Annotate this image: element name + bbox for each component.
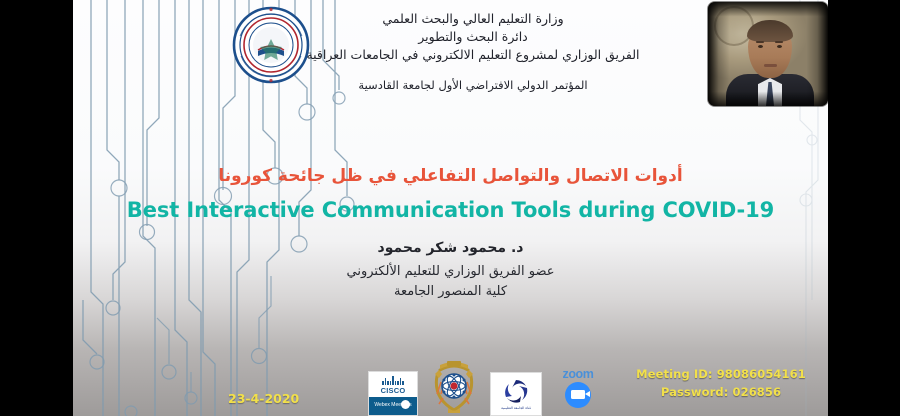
- zoom-wordmark: zoom: [562, 368, 593, 381]
- header-line-department: دائرة البحث والتطوير: [253, 28, 693, 46]
- speaker-affiliation: كلية المنصور الجامعة: [73, 282, 828, 302]
- cisco-wordmark: CISCO: [381, 386, 406, 395]
- webex-band: Webex Meetings: [369, 397, 417, 415]
- conference-name: المؤتمر الدولي الافتراضي الأول لجامعة ال…: [253, 78, 693, 92]
- cisco-bars-icon: [382, 376, 404, 385]
- ministry-header-block: وزارة التعليم العالي والبحث العلمي دائرة…: [253, 10, 693, 92]
- play-swirl-icon: [501, 378, 531, 405]
- header-line-ministry: وزارة التعليم العالي والبحث العلمي: [253, 10, 693, 28]
- video-vignette-overlay: [708, 2, 828, 106]
- webex-product-label: Webex Meetings: [374, 403, 411, 409]
- university-emblem-logo: [428, 360, 480, 416]
- university-media-channel-logo: قناة الجامعة التعليمية: [490, 372, 542, 416]
- letterbox-bar-right: [828, 0, 900, 416]
- meeting-password-line: Password: 026856: [621, 384, 821, 402]
- speaker-name: د. محمود شكر محمود: [73, 240, 828, 256]
- cisco-logo-mark: CISCO: [369, 372, 417, 397]
- letterbox-bar-left: [0, 0, 73, 416]
- zoom-logo: zoom: [552, 366, 604, 416]
- slide-date: 23-4-2020: [228, 391, 299, 406]
- speaker-role: عضو الفريق الوزاري للتعليم الألكتروني: [73, 262, 828, 282]
- meeting-credentials: Meeting ID: 98086054161 Password: 026856: [621, 366, 821, 402]
- video-conference-stage: وزارة التعليم العالي والبحث العلمي دائرة…: [0, 0, 900, 416]
- cisco-webex-logo: CISCO Webex Meetings: [368, 371, 418, 416]
- video-camera-icon: [571, 390, 585, 399]
- media-channel-caption: قناة الجامعة التعليمية: [501, 406, 531, 410]
- header-line-team: الفريق الوزاري لمشروع التعليم الالكتروني…: [253, 46, 693, 64]
- speaker-block: د. محمود شكر محمود عضو الفريق الوزاري لل…: [73, 240, 828, 301]
- slide-title-arabic: أدوات الاتصال والتواصل التفاعلي في ظل جا…: [73, 166, 828, 186]
- participant-video-thumbnail[interactable]: [708, 2, 828, 106]
- zoom-camera-badge: [565, 382, 591, 408]
- partner-logo-strip: CISCO Webex Meetings: [368, 354, 633, 416]
- meeting-id-line: Meeting ID: 98086054161: [621, 366, 821, 384]
- slide-title-english: Best Interactive Communication Tools dur…: [73, 198, 828, 222]
